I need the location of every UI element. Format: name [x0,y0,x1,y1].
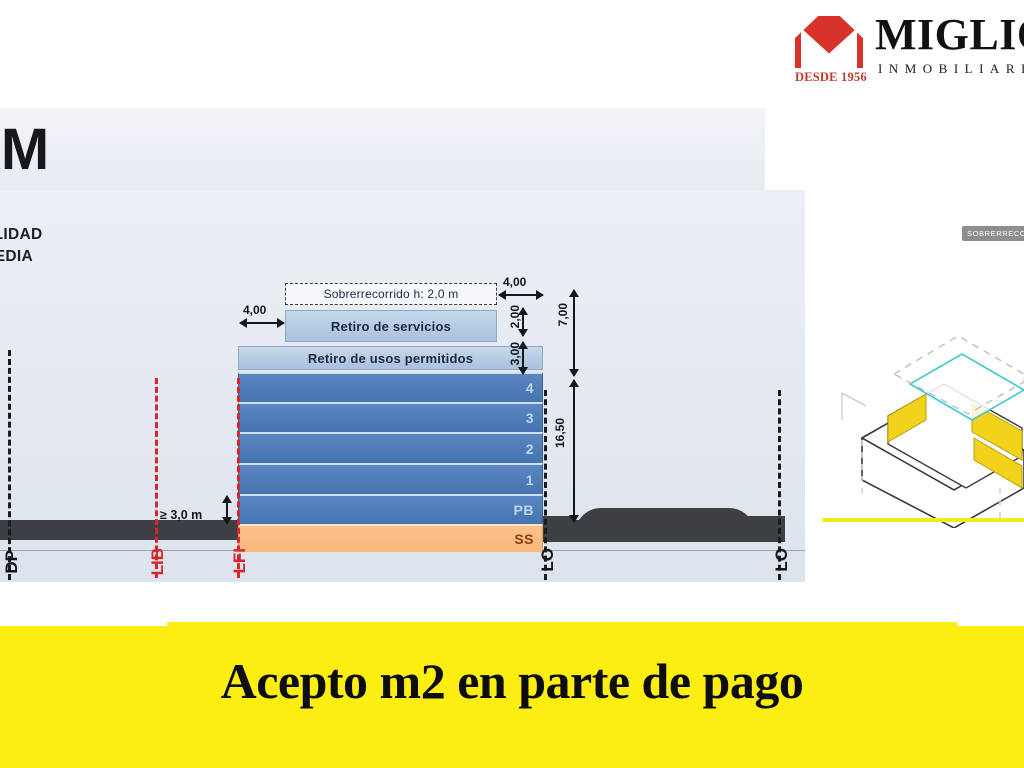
line-label-lo-left: LO [538,548,558,572]
dim-label-retiro-usos-v: 3,00 [508,342,522,365]
dim-label-altura-edificio: 16,50 [553,418,567,448]
brand-name: MIGLIORE [875,12,1024,58]
dim-arrow-altura-edificio [573,380,575,522]
dim-arrow-retiro-usos-v [522,342,524,374]
dim-label-retiro-servicios-h: 4,00 [243,303,266,317]
line-label-ldp: DP [2,550,22,574]
building-section-diagram: SS PB 1 2 3 4 Retiro de usos permitidos … [0,190,805,582]
brand-tagline: INMOBILIARIA [878,61,1024,77]
dim-arrow-sobrerrecorrido-h [499,294,543,296]
sobrerrecorrido-box: Sobrerrecorrido h: 2,0 m [285,283,497,305]
floor-4: 4 [238,372,543,402]
floor-1: 1 [238,463,543,494]
brand-wordmark: MIGLIORE INMOBILIARIA [875,12,1024,77]
line-label-lo-right: LO [772,548,792,572]
promo-banner-text: Acepto m2 en parte de pago [0,626,1024,736]
dim-label-altura-minima-pb: ≥ 3,0 m [160,508,202,522]
dim-label-sobrerrecorrido-v: 2,00 [508,305,522,328]
iso-yellow-rule [822,518,1024,522]
slide-panel-upper [0,108,765,193]
logo-since-label: DESDE 1956 [795,70,875,85]
ground-slab [0,520,238,540]
floor-label-4: 4 [526,380,534,396]
dim-arrow-sobrerrecorrido-v [522,308,524,336]
line-label-lfi: LFI [230,548,250,574]
floor-pb: PB [238,494,543,524]
dim-arrow-retiro-servicios-h [240,322,284,324]
retiro-servicios-box: Retiro de servicios [285,310,497,342]
page-title: AM [0,120,48,180]
floor-ss: SS [238,524,543,552]
dim-label-retiros-total-v: 7,00 [556,303,570,326]
floor-label-ss: SS [514,531,534,547]
reference-line-ldp [8,350,11,580]
dim-label-sobrerrecorrido-h: 4,00 [503,275,526,289]
floor-label-pb: PB [514,502,534,518]
floor-2: 2 [238,432,543,463]
iso-sobrerrecorrido-tag: SOBRERRECORRIDO [962,226,1024,241]
floor-label-2: 2 [526,441,534,457]
isometric-massing-diagram: SOBRERRECORRIDO [822,188,1024,528]
dim-arrow-altura-minima-pb [226,496,228,524]
brand-logo[interactable]: DESDE 1956 MIGLIORE INMOBILIARIA [795,14,1024,94]
floor-label-3: 3 [526,410,534,426]
line-label-lib: LIB [148,548,168,575]
street-crown [575,508,755,534]
floor-3: 3 [238,402,543,432]
floor-label-1: 1 [526,472,534,488]
migliore-m-logo-icon [795,16,863,68]
dim-arrow-retiros-total-v [573,290,575,376]
retiro-usos-permitidos-box: Retiro de usos permitidos [238,346,543,370]
